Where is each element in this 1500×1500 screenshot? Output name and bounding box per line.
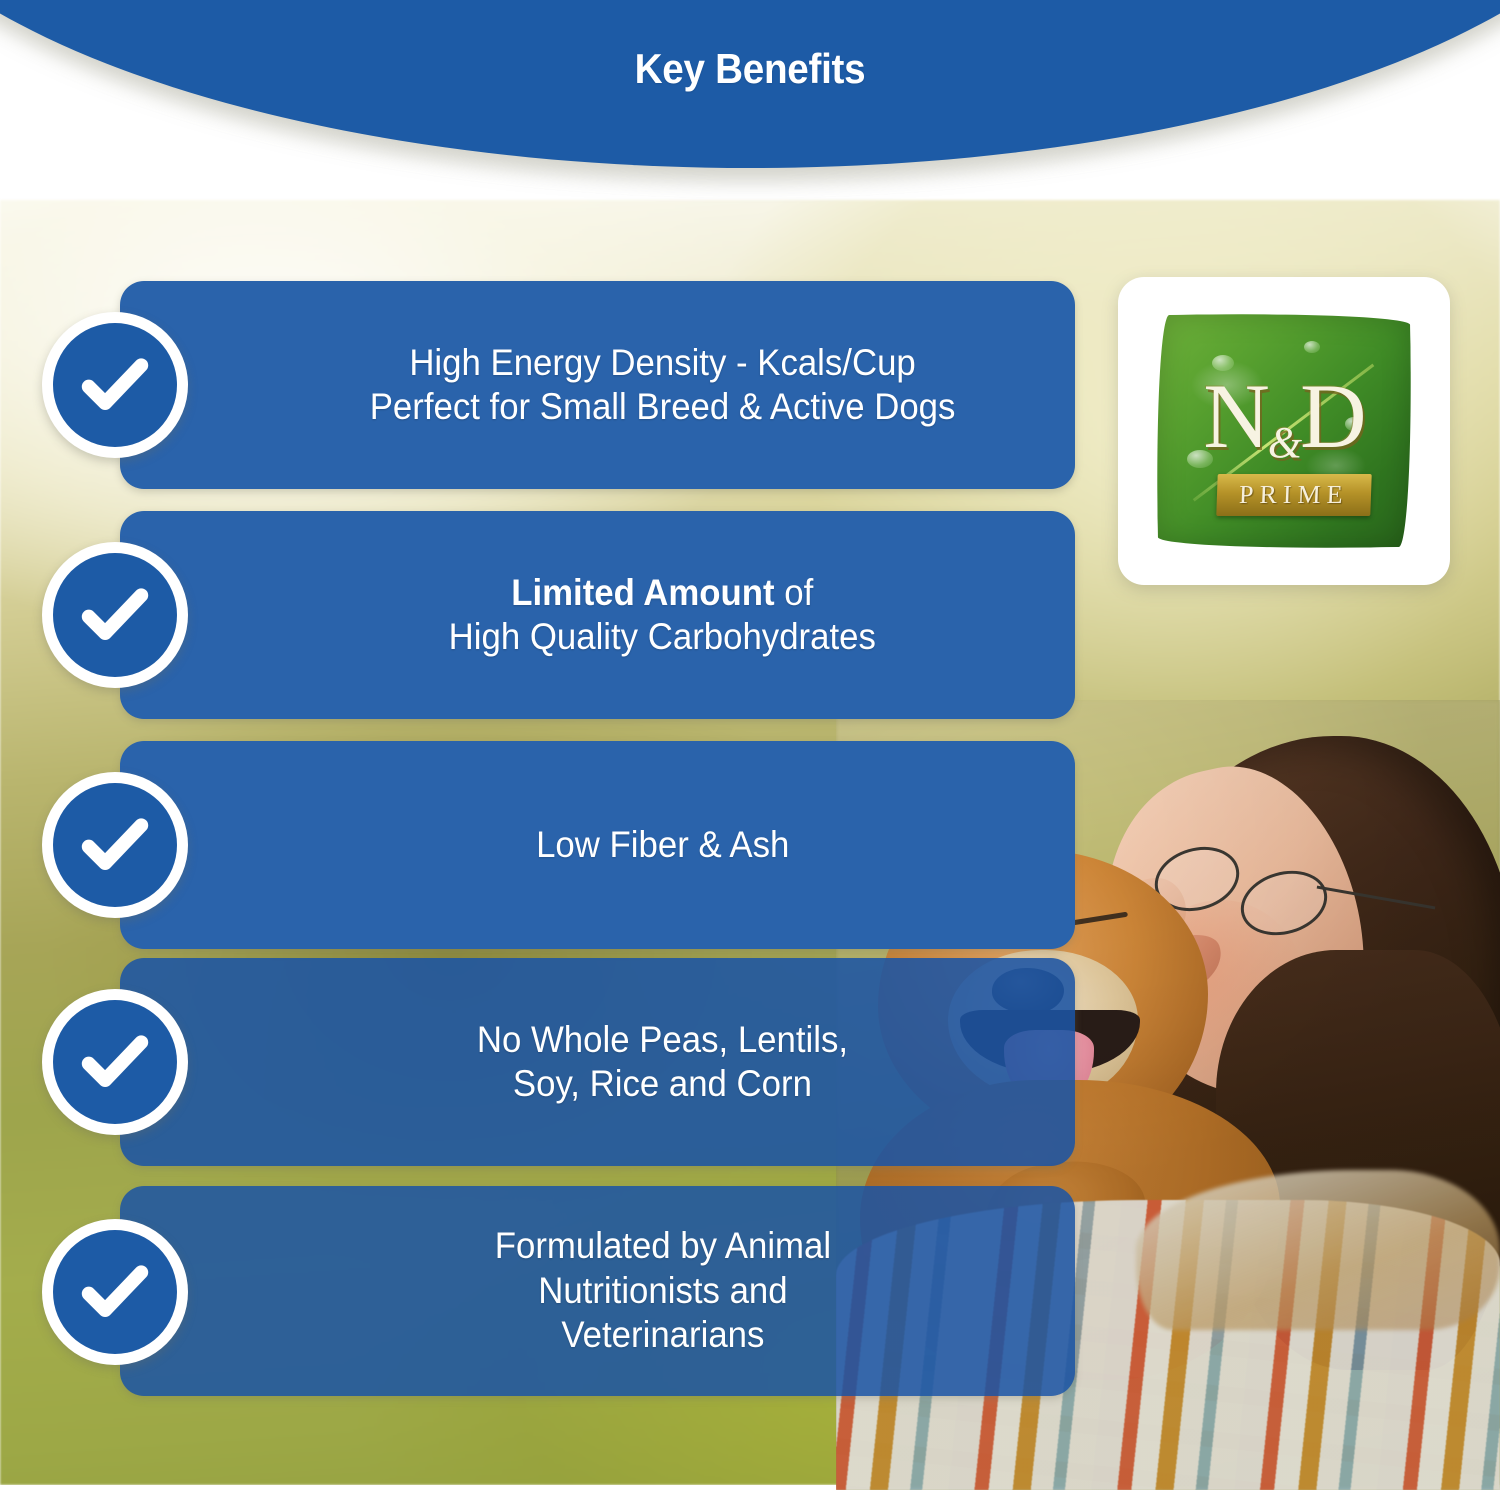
- check-mark-glyph: [74, 1021, 156, 1103]
- benefit-card-5[interactable]: Formulated by Animal Nutritionists and V…: [120, 1186, 1075, 1396]
- check-icon: [42, 1219, 188, 1365]
- check-mark-glyph: [74, 344, 156, 426]
- benefit-text-3: Low Fiber & Ash: [536, 823, 789, 867]
- prime-label: PRIME: [1239, 480, 1350, 510]
- benefit-row-2[interactable]: Limited Amount of High Quality Carbohydr…: [0, 511, 1100, 719]
- check-icon: [42, 312, 188, 458]
- check-icon: [42, 989, 188, 1135]
- check-icon: [42, 542, 188, 688]
- benefit-row-5[interactable]: Formulated by Animal Nutritionists and V…: [0, 1186, 1100, 1396]
- benefit-card-4[interactable]: No Whole Peas, Lentils, Soy, Rice and Co…: [120, 958, 1075, 1166]
- leaf-logo: N&D PRIME: [1156, 313, 1412, 549]
- benefit-card-2[interactable]: Limited Amount of High Quality Carbohydr…: [120, 511, 1075, 719]
- brand-letter-d: D: [1300, 365, 1364, 467]
- check-icon-disc: [53, 323, 177, 447]
- benefit-text-1: High Energy Density - Kcals/Cup Perfect …: [370, 341, 956, 430]
- check-mark-glyph: [74, 1251, 156, 1333]
- check-mark-glyph: [74, 804, 156, 886]
- benefit-text-2: Limited Amount of High Quality Carbohydr…: [449, 571, 876, 660]
- benefits-list: High Energy Density - Kcals/Cup Perfect …: [0, 0, 1500, 1500]
- check-icon-disc: [53, 1000, 177, 1124]
- brand-wordmark: N&D: [1156, 370, 1412, 465]
- brand-ampersand: &: [1268, 418, 1300, 467]
- infographic-canvas: Key Benefits N&D PRIME High Energy Densi…: [0, 0, 1500, 1500]
- check-icon: [42, 772, 188, 918]
- check-icon-disc: [53, 553, 177, 677]
- check-icon-disc: [53, 1230, 177, 1354]
- benefit-text-4: No Whole Peas, Lentils, Soy, Rice and Co…: [477, 1018, 848, 1107]
- benefit-card-1[interactable]: High Energy Density - Kcals/Cup Perfect …: [120, 281, 1075, 489]
- brand-logo-card: N&D PRIME: [1118, 277, 1450, 585]
- brand-letter-n: N: [1203, 365, 1267, 467]
- prime-ribbon: PRIME: [1217, 474, 1372, 516]
- check-icon-disc: [53, 783, 177, 907]
- benefit-row-1[interactable]: High Energy Density - Kcals/Cup Perfect …: [0, 281, 1100, 489]
- check-mark-glyph: [74, 574, 156, 656]
- benefit-text-5: Formulated by Animal Nutritionists and V…: [494, 1224, 830, 1357]
- benefit-text-2-strong: Limited Amount: [511, 572, 774, 613]
- benefit-card-3[interactable]: Low Fiber & Ash: [120, 741, 1075, 949]
- benefit-row-3[interactable]: Low Fiber & Ash: [0, 741, 1100, 949]
- benefit-row-4[interactable]: No Whole Peas, Lentils, Soy, Rice and Co…: [0, 958, 1100, 1166]
